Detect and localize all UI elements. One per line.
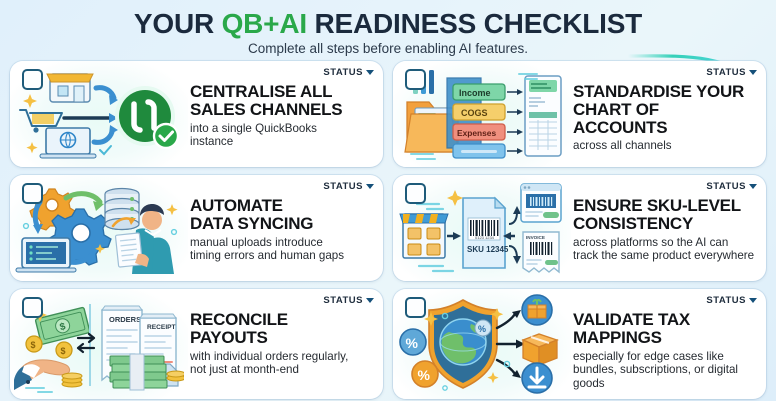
chevron-down-icon [366,298,374,303]
status-dropdown-5[interactable]: STATUS [323,295,374,306]
checkbox-card-1[interactable] [22,69,43,90]
card-illustration-cash-orders-receipt: $ $ $ [10,289,188,399]
chevron-down-icon [749,184,757,189]
checklist-card-centralise-sales-channels[interactable]: STATUS CENTRALISE ALL SALES CHANNELS int… [10,61,383,167]
card-desc-4: across platforms so the AI can track the… [573,236,756,263]
svg-text:$: $ [31,340,36,350]
card-title-2: STANDARDISE YOUR CHART OF ACCOUNTS [573,83,756,136]
card-body-5: STATUS RECONCILE PAYOUTS with individual… [188,289,383,399]
card-illustration-shield-globe-tax: % % % [393,289,571,399]
svg-text:Income: Income [459,88,491,98]
checkbox-card-3[interactable] [22,183,43,204]
card-title-5: RECONCILE PAYOUTS [190,311,373,346]
status-dropdown-3[interactable]: STATUS [323,181,374,192]
card-title-3: AUTOMATE DATA SYNCING [190,197,373,232]
card-body-3: STATUS AUTOMATE DATA SYNCING manual uplo… [188,175,383,281]
svg-text:%: % [406,335,419,351]
checkbox-card-4[interactable] [405,183,426,204]
svg-text:Expenses: Expenses [457,128,496,138]
card-title-6: VALIDATE TAX MAPPINGS [573,311,756,346]
card-desc-5: with individual orders regularly, not ju… [190,350,373,377]
status-label-2: STATUS [706,67,746,78]
svg-text:COGS: COGS [461,108,488,118]
svg-text:INVOICE: INVOICE [526,235,545,240]
page-title-accent: QB+AI [222,8,307,39]
checkbox-card-2[interactable] [405,69,426,90]
checklist-grid: STATUS CENTRALISE ALL SALES CHANNELS int… [0,56,776,401]
svg-text:ORDERS: ORDERS [109,315,141,324]
page-title: YOUR QB+AI READINESS CHECKLIST [0,9,776,38]
card-desc-3: manual uploads introduce timing errors a… [190,236,373,263]
svg-text:RECEIPT: RECEIPT [147,324,176,331]
checklist-card-reconcile-payouts[interactable]: $ $ $ [10,289,383,399]
svg-text:%: % [478,324,486,334]
page-subtitle: Complete all steps before enabling AI fe… [0,41,776,56]
status-dropdown-1[interactable]: STATUS [323,67,374,78]
chevron-down-icon [749,70,757,75]
page-title-part2: READINESS CHECKLIST [307,8,642,39]
card-illustration-gears-database-person [10,175,188,281]
card-body-4: STATUS ENSURE SKU-LEVEL CONSISTENCY acro… [571,175,766,281]
svg-text:%: % [418,367,431,383]
status-dropdown-6[interactable]: STATUS [706,295,757,306]
card-desc-2: across all channels [573,139,756,152]
chevron-down-icon [749,298,757,303]
status-label-5: STATUS [323,295,363,306]
card-desc-1: into a single QuickBooks instance [190,122,373,149]
status-label-3: STATUS [323,181,363,192]
chevron-down-icon [366,184,374,189]
svg-text:0123 1234: 0123 1234 [475,235,495,240]
status-label-4: STATUS [706,181,746,192]
checkbox-card-5[interactable] [22,297,43,318]
page-title-part1: YOUR [134,8,222,39]
status-dropdown-2[interactable]: STATUS [706,67,757,78]
page-header: YOUR QB+AI READINESS CHECKLIST Complete … [0,0,776,56]
chevron-down-icon [366,70,374,75]
checkbox-card-6[interactable] [405,297,426,318]
card-body-1: STATUS CENTRALISE ALL SALES CHANNELS int… [188,61,383,167]
checklist-card-ensure-sku-level-consistency[interactable]: 0123 1234 SKU 12345 [393,175,766,281]
svg-text:SKU 12345: SKU 12345 [467,245,509,254]
svg-text:$: $ [61,346,66,356]
status-label-6: STATUS [706,295,746,306]
card-title-1: CENTRALISE ALL SALES CHANNELS [190,83,373,118]
checklist-card-standardise-chart-of-accounts[interactable]: Income COGS Expenses [393,61,766,167]
card-body-2: STATUS STANDARDISE YOUR CHART OF ACCOUNT… [571,61,766,167]
card-body-6: STATUS VALIDATE TAX MAPPINGS especially … [571,289,766,399]
card-illustration-folders-to-ledger: Income COGS Expenses [393,61,571,167]
checklist-card-validate-tax-mappings[interactable]: % % % [393,289,766,399]
card-title-4: ENSURE SKU-LEVEL CONSISTENCY [573,197,756,232]
card-illustration-barcode-sku: 0123 1234 SKU 12345 [393,175,571,281]
status-label-1: STATUS [323,67,363,78]
card-illustration-storefront-to-quickbooks [10,61,188,167]
checklist-card-automate-data-syncing[interactable]: STATUS AUTOMATE DATA SYNCING manual uplo… [10,175,383,281]
status-dropdown-4[interactable]: STATUS [706,181,757,192]
card-desc-6: especially for edge cases like bundles, … [573,350,756,390]
